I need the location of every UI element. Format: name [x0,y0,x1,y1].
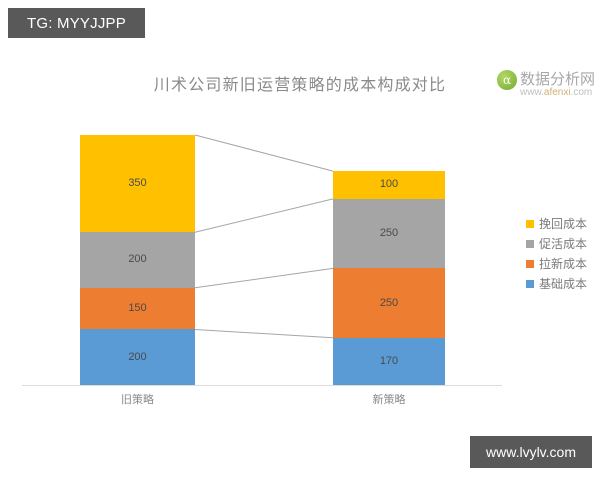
connector-line [195,199,333,232]
chart-plot-area: 350200150200100250250170 旧策略新策略 [0,0,600,480]
bar-segment-value-label: 350 [128,178,146,189]
category-label: 新策略 [333,391,445,407]
category-label: 旧策略 [80,391,195,407]
site-url-badge: www.lvylv.com [470,436,592,468]
bar-segment[interactable]: 200 [80,232,195,288]
bar-segment[interactable]: 350 [80,135,195,232]
bar-segment[interactable]: 100 [333,171,445,199]
connector-line [195,268,333,287]
legend-item-label: 促活成本 [539,235,587,252]
connector-line [195,135,333,171]
site-badge-label: www.lvylv.com [486,444,576,460]
chart-legend: 挽回成本促活成本拉新成本基础成本 [526,214,598,294]
legend-item[interactable]: 基础成本 [526,274,598,293]
legend-item-label: 拉新成本 [539,255,587,272]
bar-segment-value-label: 150 [128,303,146,314]
legend-item-label: 挽回成本 [539,215,587,232]
legend-color-swatch [526,220,534,228]
bar-segment[interactable]: 250 [333,268,445,337]
legend-color-swatch [526,240,534,248]
bar-segment-value-label: 250 [380,298,398,309]
bar-segment-value-label: 100 [380,179,398,190]
bar-segment[interactable]: 170 [333,338,445,385]
x-axis-line [22,385,502,386]
bar-segment[interactable]: 150 [80,288,195,330]
bar-segment[interactable]: 250 [333,199,445,268]
legend-item[interactable]: 促活成本 [526,234,598,253]
bar-segment-value-label: 250 [380,228,398,239]
legend-color-swatch [526,280,534,288]
bar-stack-2[interactable]: 100250250170 [333,171,445,385]
bar-stack-1[interactable]: 350200150200 [80,135,195,385]
connector-line [195,329,333,337]
bar-segment[interactable]: 200 [80,329,195,385]
legend-item[interactable]: 拉新成本 [526,254,598,273]
bar-segment-value-label: 200 [128,352,146,363]
legend-item-label: 基础成本 [539,275,587,292]
bar-segment-value-label: 200 [128,254,146,265]
legend-item[interactable]: 挽回成本 [526,214,598,233]
legend-color-swatch [526,260,534,268]
bar-segment-value-label: 170 [380,356,398,367]
